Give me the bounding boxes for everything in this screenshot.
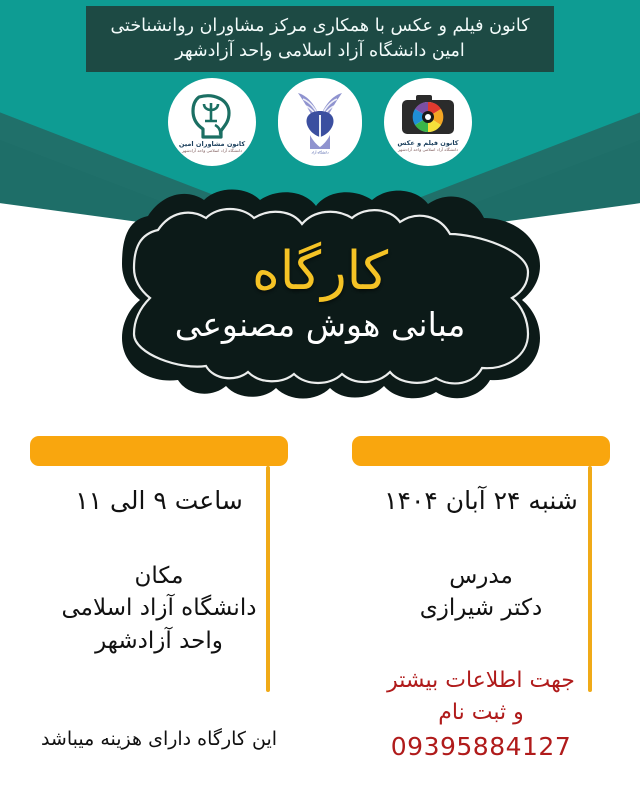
amin-counselors-club-logo: کانون مشاوران امین دانشگاه آزاد اسلامی و…	[168, 78, 256, 166]
location-line-1: دانشگاه آزاد اسلامی	[30, 592, 288, 625]
contact-block[interactable]: جهت اطلاعات بیشتر و ثبت نام 09395884127	[352, 665, 610, 765]
workshop-date: شنبه ۲۴ آبان ۱۴۰۴	[352, 484, 610, 518]
divider-line-right	[588, 466, 592, 692]
divider-line-left	[266, 466, 270, 692]
azad-wings-icon: دانشگاه آزاد	[288, 85, 352, 159]
header-banner: کانون فیلم و عکس با همکاری مرکز مشاوران …	[86, 6, 554, 72]
instructor-label: مدرس	[352, 560, 610, 593]
logo-subcaption: دانشگاه آزاد اسلامی واحد آزادشهر	[398, 147, 458, 152]
right-info-column: شنبه ۲۴ آبان ۱۴۰۴ مدرس دکتر شیرازی جهت ا…	[352, 436, 610, 765]
psychology-head-icon	[185, 91, 239, 139]
orange-bar-left	[30, 436, 288, 466]
azad-university-logo: دانشگاه آزاد	[278, 78, 362, 166]
logo-caption: کانون مشاوران امین	[179, 140, 245, 148]
instructor-block: مدرس دکتر شیرازی	[352, 560, 610, 625]
location-line-2: واحد آزادشهر	[30, 625, 288, 658]
plaque-shape	[78, 186, 562, 402]
contact-line-1: جهت اطلاعات بیشتر	[352, 665, 610, 697]
workshop-poster: کانون فیلم و عکس با همکاری مرکز مشاوران …	[0, 0, 640, 800]
header-line-1: کانون فیلم و عکس با همکاری مرکز مشاوران …	[110, 14, 529, 39]
contact-phone-number[interactable]: 09395884127	[352, 729, 610, 765]
left-info-column: ساعت ۹ الی ۱۱ مکان دانشگاه آزاد اسلامی و…	[30, 436, 288, 658]
instructor-name: دکتر شیرازی	[352, 592, 610, 625]
svg-text:دانشگاه آزاد: دانشگاه آزاد	[311, 150, 329, 155]
fee-note: این کارگاه دارای هزینه میباشد	[30, 728, 288, 750]
contact-line-2: و ثبت نام	[352, 697, 610, 729]
logo-subcaption: دانشگاه آزاد اسلامی واحد آزادشهر	[182, 148, 242, 153]
logo-row: کانون فیلم و عکس دانشگاه آزاد اسلامی واح…	[0, 78, 640, 170]
workshop-time: ساعت ۹ الی ۱۱	[30, 484, 288, 518]
logo-caption: کانون فیلم و عکس	[397, 139, 458, 147]
camera-icon	[398, 92, 458, 138]
film-and-photo-club-logo: کانون فیلم و عکس دانشگاه آزاد اسلامی واح…	[384, 78, 472, 166]
title-plaque: کارگاه مبانی هوش مصنوعی	[78, 186, 562, 402]
location-label: مکان	[30, 560, 288, 593]
header-line-2: امین دانشگاه آزاد اسلامی واحد آزادشهر	[175, 39, 465, 64]
orange-bar-right	[352, 436, 610, 466]
location-block: مکان دانشگاه آزاد اسلامی واحد آزادشهر	[30, 560, 288, 658]
